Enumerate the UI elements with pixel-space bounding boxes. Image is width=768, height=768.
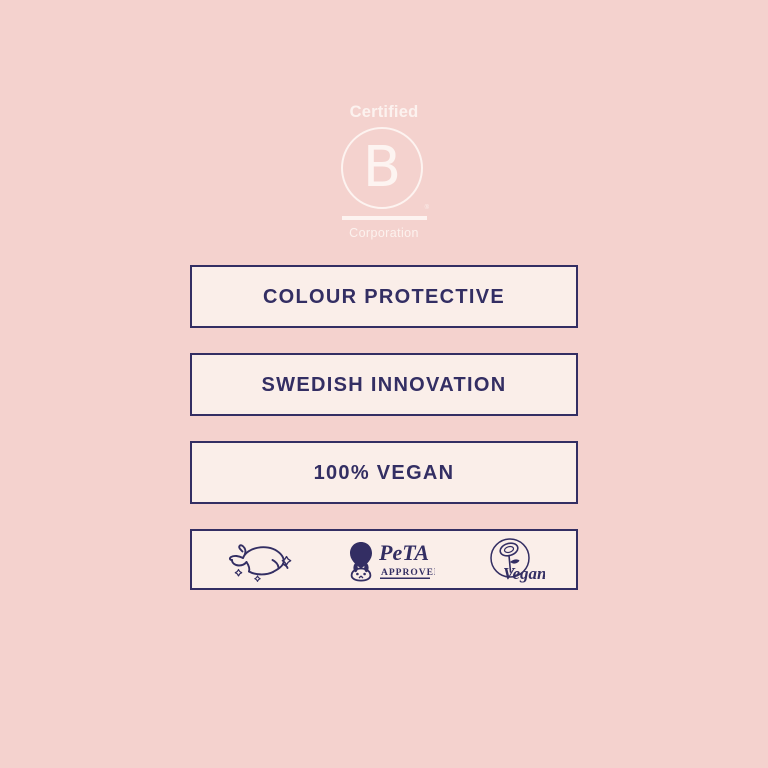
peta-approved-logo: PeTA APPROVED — [343, 537, 435, 583]
vegan-wordmark: Vegan — [503, 564, 545, 583]
product-claims-panel: Certified B ® Corporation COLOUR PROTECT… — [0, 0, 768, 768]
claim-label: COLOUR PROTECTIVE — [263, 287, 505, 307]
leaping-bunny-logo — [223, 537, 295, 583]
claim-box-swedish-innovation: SWEDISH INNOVATION — [190, 353, 578, 416]
b-corp-letter: B — [341, 127, 423, 209]
b-corp-divider-bar — [342, 216, 427, 220]
certification-logos-box: PeTA APPROVED Vegan — [190, 529, 578, 590]
b-corp-mark: B ® — [341, 127, 427, 213]
vegan-society-logo: Vegan — [483, 537, 545, 583]
claim-box-100-percent-vegan: 100% VEGAN — [190, 441, 578, 504]
b-corp-certified-label: Certified — [350, 104, 419, 121]
claim-label: SWEDISH INNOVATION — [262, 375, 507, 395]
registered-trademark-icon: ® — [425, 205, 429, 211]
b-corp-corporation-label: Corporation — [349, 227, 419, 240]
claim-box-colour-protective: COLOUR PROTECTIVE — [190, 265, 578, 328]
peta-approved-subtext: APPROVED — [381, 568, 435, 578]
claim-label: 100% VEGAN — [314, 463, 455, 483]
claims-list: COLOUR PROTECTIVE SWEDISH INNOVATION 100… — [190, 265, 578, 590]
peta-wordmark: PeTA — [378, 540, 429, 565]
b-corp-certified-badge: Certified B ® Corporation — [0, 104, 768, 239]
